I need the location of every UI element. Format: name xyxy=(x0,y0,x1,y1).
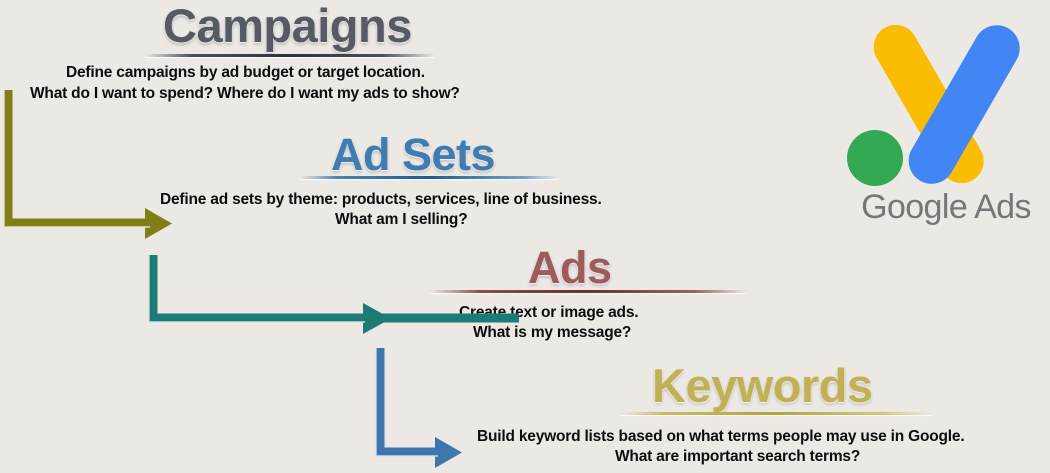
keywords-description-line-2: What are important search terms? xyxy=(615,447,860,467)
arrow-head-blue xyxy=(435,437,462,468)
google-ads-wordmark: Google Ads xyxy=(846,188,1046,227)
arrow-ad-sets-to-ads xyxy=(145,250,415,350)
section-title-ad-sets: Ad Sets xyxy=(331,132,495,177)
section-title-campaigns: Campaigns xyxy=(163,2,412,49)
arrow-highlight-blue xyxy=(376,348,438,456)
section-rule-ad-sets xyxy=(300,176,558,179)
section-rule-ads xyxy=(430,290,746,293)
google-ads-logo-mark xyxy=(846,2,1046,187)
logo-green-circle xyxy=(847,130,903,186)
slide-canvas: Campaigns Define campaigns by ad budget … xyxy=(0,0,1050,473)
google-ads-logo: Google Ads xyxy=(846,2,1046,234)
arrow-ads-to-keywords xyxy=(372,343,482,473)
section-title-ads: Ads xyxy=(528,245,612,290)
arrow-highlight-teal xyxy=(149,255,365,322)
section-title-keywords: Keywords xyxy=(652,362,873,409)
ads-description-line-2: What is my message? xyxy=(473,323,631,343)
ad-sets-description-line-2: What am I selling? xyxy=(335,210,467,230)
keywords-description-line-1: Build keyword lists based on what terms … xyxy=(477,427,964,447)
section-rule-campaigns xyxy=(145,54,435,57)
arrow-head-teal xyxy=(363,303,391,334)
arrow-head-olive xyxy=(145,208,172,239)
arrow-highlight-olive xyxy=(4,90,150,227)
arrow-shaft-blue xyxy=(380,348,442,452)
arrow-campaigns-to-ad-sets xyxy=(0,84,180,244)
arrow-shaft-olive xyxy=(8,90,150,223)
campaigns-description-line-1: Define campaigns by ad budget or target … xyxy=(66,63,425,83)
ad-sets-description-line-1: Define ad sets by theme: products, servi… xyxy=(160,190,602,210)
section-rule-keywords xyxy=(620,412,932,415)
